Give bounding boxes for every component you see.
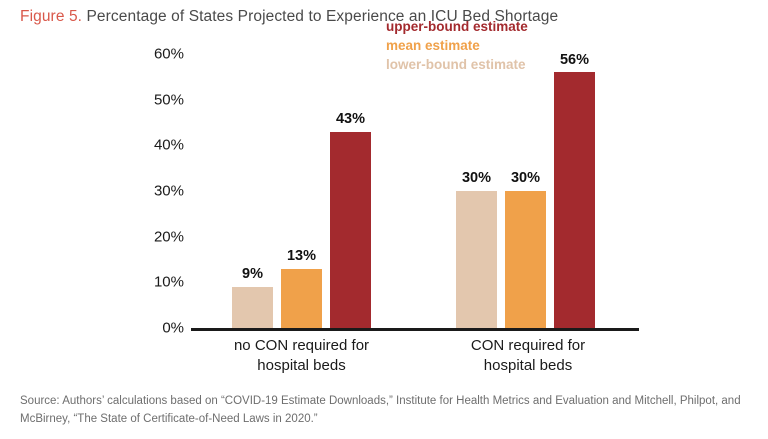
bar-nocon-upper: 43% <box>330 132 371 328</box>
source-note-line2: McBirney, “The State of Certificate-of-N… <box>20 411 750 429</box>
legend-item-upper-bound: upper-bound estimate <box>386 17 566 36</box>
y-axis-tick-50: 50% <box>128 92 184 107</box>
bar-label-con-mean: 30% <box>511 171 540 186</box>
y-axis-tick-60: 60% <box>128 47 184 62</box>
source-note: Source: Authors’ calculations based on “… <box>20 393 750 429</box>
bar-label-nocon-mean: 13% <box>287 249 316 264</box>
legend-item-mean: mean estimate <box>386 36 566 55</box>
chart-legend: upper-bound estimate mean estimate lower… <box>386 17 566 74</box>
plot-region: 9% 13% 43% 30% 30% 56% <box>191 54 639 328</box>
x-axis-group-con-line2: hospital beds <box>417 356 639 376</box>
x-axis-group-no-con-line1: no CON required for <box>191 336 412 356</box>
y-axis-tick-0: 0% <box>128 321 184 336</box>
x-axis-line <box>191 328 639 331</box>
bar-con-lower: 30% <box>456 191 497 328</box>
bar-label-nocon-upper: 43% <box>336 112 365 127</box>
bar-label-nocon-lower: 9% <box>242 267 263 282</box>
y-axis-tick-20: 20% <box>128 229 184 244</box>
bar-nocon-lower: 9% <box>232 287 273 328</box>
figure-number: Figure 5. <box>20 8 82 25</box>
x-axis-labels: no CON required for hospital beds CON re… <box>191 336 639 384</box>
x-axis-group-con-line1: CON required for <box>417 336 639 356</box>
bar-con-upper: 56% <box>554 72 595 328</box>
bar-nocon-mean: 13% <box>281 269 322 328</box>
source-note-line1: Source: Authors’ calculations based on “… <box>20 393 750 411</box>
x-axis-group-no-con-line2: hospital beds <box>191 356 412 376</box>
y-axis-tick-30: 30% <box>128 184 184 199</box>
bar-con-mean: 30% <box>505 191 546 328</box>
bar-chart: 60% 50% 40% 30% 20% 10% 0% 9% 13% 43% 30… <box>0 34 768 384</box>
y-axis-tick-40: 40% <box>128 138 184 153</box>
x-axis-group-con: CON required for hospital beds <box>417 336 639 376</box>
x-axis-group-no-con: no CON required for hospital beds <box>191 336 412 376</box>
y-axis-labels: 60% 50% 40% 30% 20% 10% 0% <box>128 34 184 334</box>
legend-item-lower-bound: lower-bound estimate <box>386 55 566 74</box>
y-axis-tick-10: 10% <box>128 275 184 290</box>
bar-label-con-lower: 30% <box>462 171 491 186</box>
